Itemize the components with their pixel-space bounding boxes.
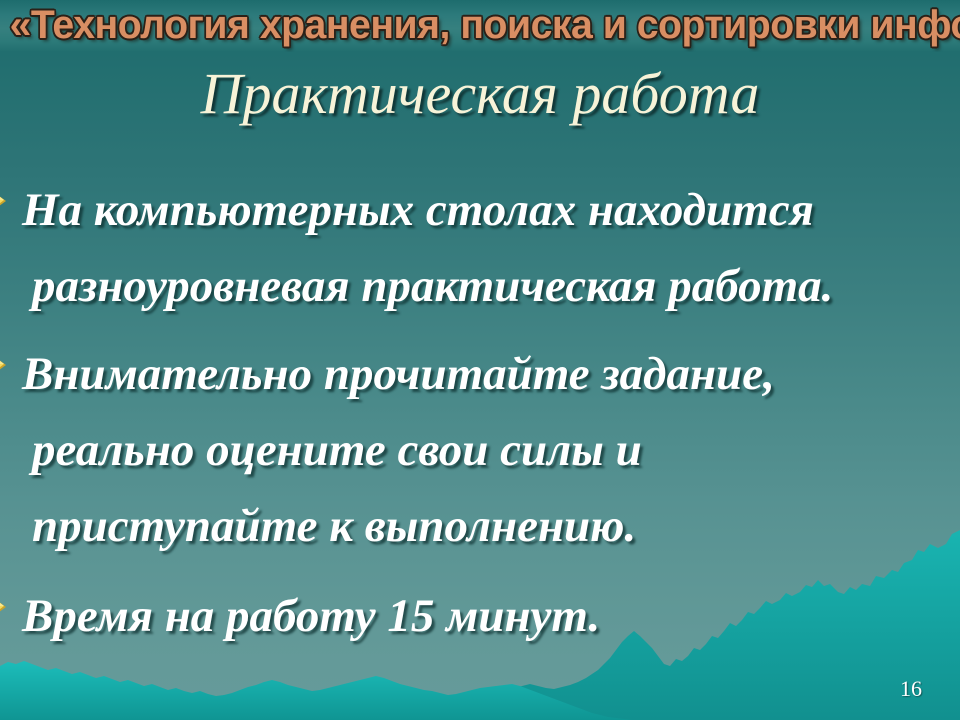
header-banner-text: «Технология хранения, поиска и сортировк… xyxy=(10,1,951,49)
bullet-line: приступайте к выполнению. xyxy=(22,488,960,564)
list-item: На компьютерных столах находится разноур… xyxy=(0,172,960,324)
list-item: Внимательно прочитайте задание, реально … xyxy=(0,336,960,564)
page-number: 16 xyxy=(900,676,922,702)
bullet-list: На компьютерных столах находится разноур… xyxy=(0,172,960,658)
gold-arrow-bullet-icon xyxy=(0,349,20,381)
gold-arrow-bullet-icon xyxy=(0,185,20,217)
list-item: Время на работу 15 минут. xyxy=(0,578,960,654)
bullet-line: Внимательно прочитайте задание, xyxy=(22,336,960,412)
presentation-slide: «Технология хранения, поиска и сортировк… xyxy=(0,0,960,720)
slide-header-banner: «Технология хранения, поиска и сортировк… xyxy=(0,0,960,52)
bullet-line: разноуровневая практическая работа. xyxy=(22,248,960,324)
gold-arrow-bullet-icon xyxy=(0,591,20,623)
bullet-line: реально оцените свои силы и xyxy=(22,412,960,488)
page-title: Практическая работа xyxy=(0,58,960,130)
bullet-line: Время на работу 15 минут. xyxy=(22,578,960,654)
bullet-line: На компьютерных столах находится xyxy=(22,172,960,248)
